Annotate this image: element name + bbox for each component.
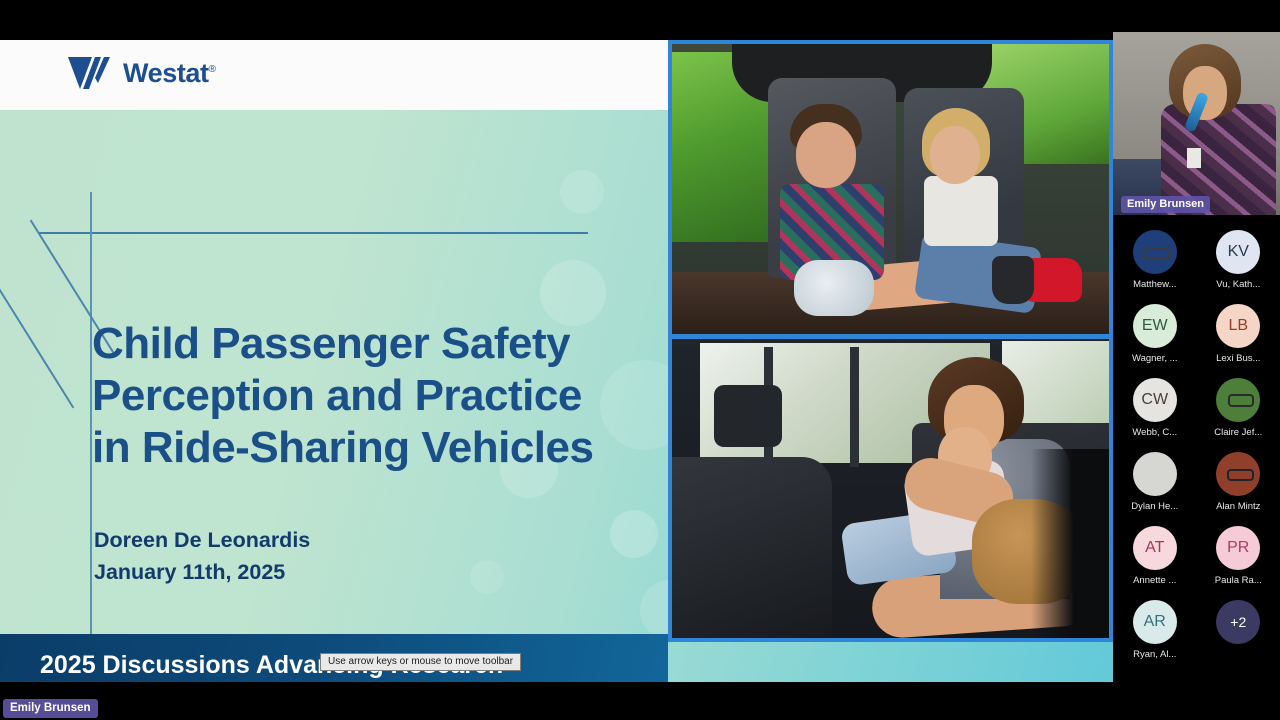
participant-tile[interactable]: Dylan He... [1118,452,1192,526]
decorative-horizontal-line [38,232,588,234]
avatar-photo-image [1133,230,1177,274]
participant-tile[interactable]: PRPaula Ra... [1201,526,1275,600]
participant-name: Annette ... [1133,575,1176,586]
westat-logo-icon [68,56,114,90]
blanket [794,260,874,316]
participant-overflow-count: +2 [1216,600,1260,644]
slide-photo-column [668,40,1113,642]
child-face [930,126,980,184]
bokeh-circle [540,260,606,326]
participant-avatar-photo [1216,452,1260,496]
bokeh-circle [470,560,504,594]
participant-tile[interactable]: ATAnnette ... [1118,526,1192,600]
avatar-photo-image [1216,378,1260,422]
powerpoint-toolbar-tooltip: Use arrow keys or mouse to move toolbar [320,653,521,671]
participant-name: Ryan, Al... [1133,649,1176,660]
westat-wordmark-text: Westat [123,58,209,88]
participant-name: Lexi Bus... [1216,353,1260,364]
share-presenter-nametag: Emily Brunsen [3,699,98,718]
participant-name: Webb, C... [1132,427,1177,438]
participant-avatar-initials: CW [1133,378,1177,422]
child-face [796,122,856,188]
participant-avatar-initials: AR [1133,600,1177,644]
window-pillar [850,347,859,467]
participant-name: Paula Ra... [1215,575,1262,586]
bokeh-circle [560,170,604,214]
participant-name: Claire Jef... [1214,427,1262,438]
westat-wordmark: Westat® [123,60,216,87]
active-speaker-nametag: Emily Brunsen [1121,196,1210,213]
participant-tile[interactable]: CWWebb, C... [1118,378,1192,452]
participant-avatar-photo [1133,230,1177,274]
avatar-photo-image [1216,452,1260,496]
slide-photo-children-carseats [672,44,1109,334]
participant-name: Vu, Kath... [1216,279,1260,290]
participant-tile[interactable]: KVVu, Kath... [1201,230,1275,304]
bokeh-circle [610,510,658,558]
foreground-shadow [1031,449,1109,638]
participant-name: Dylan He... [1131,501,1178,512]
participant-name: Wagner, ... [1132,353,1178,364]
avatar-photo-image [1133,452,1177,496]
speaker-badge [1187,148,1201,168]
active-speaker-video-tile[interactable]: Emily Brunsen [1113,0,1280,215]
participant-avatar-photo [1216,378,1260,422]
participant-grid: Matthew...KVVu, Kath...EWWagner, ...LBLe… [1113,218,1280,720]
slide-presenter-name: Doreen De Leonardis [94,525,310,557]
participant-avatar-initials: KV [1216,230,1260,274]
participant-avatar-initials: EW [1133,304,1177,348]
cup-holder [992,256,1034,304]
participant-avatar-initials: AT [1133,526,1177,570]
participant-name: Matthew... [1133,279,1176,290]
westat-registered-mark: ® [209,64,216,75]
participant-avatar-photo [1133,452,1177,496]
participant-tile[interactable]: ARRyan, Al... [1118,600,1192,674]
video-letterbox [1113,0,1280,32]
slide-presenter-block: Doreen De Leonardis January 11th, 2025 [94,525,310,589]
participant-tile[interactable]: Alan Mintz [1201,452,1275,526]
participant-overflow-tile[interactable]: +2 [1201,600,1275,674]
participant-tile[interactable]: EWWagner, ... [1118,304,1192,378]
westat-logo: Westat® [68,56,216,90]
decorative-diagonal-line [0,272,74,409]
child-torso [924,176,998,246]
participant-avatar-initials: PR [1216,526,1260,570]
slide-banner-line-2: in Transportation Safety (DARTS) [40,682,503,683]
participant-rail: Emily Brunsen Matthew...KVVu, Kath...EWW… [1113,0,1280,720]
car-front-seat [672,457,832,638]
app-root: Westat® Improving Lives Through Research… [0,0,1280,720]
shared-screen-slide[interactable]: Westat® Improving Lives Through Research… [0,40,1113,682]
participant-tile[interactable]: Claire Jef... [1201,378,1275,452]
slide-presentation-date: January 11th, 2025 [94,557,310,589]
participant-tile[interactable]: Matthew... [1118,230,1192,304]
car-headrest [714,385,782,447]
participant-name: Alan Mintz [1216,501,1260,512]
slide-photo-mother-child [672,339,1109,638]
participant-avatar-initials: LB [1216,304,1260,348]
participant-tile[interactable]: LBLexi Bus... [1201,304,1275,378]
